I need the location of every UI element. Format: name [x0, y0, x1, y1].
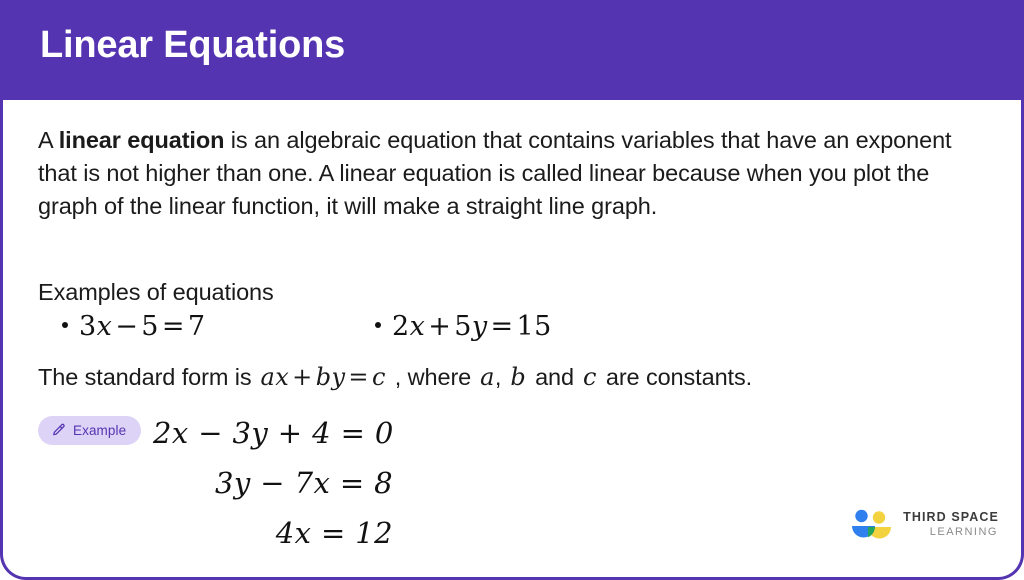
bullet1-rhs: 7	[188, 311, 206, 342]
standard-form-and: and	[535, 364, 574, 391]
bullet2-equals: =	[488, 311, 517, 342]
list-item: 3x−5=7	[62, 311, 205, 342]
bullet1-term2: 5	[141, 311, 159, 342]
logo-line-2: LEARNING	[903, 527, 999, 538]
bullet2-coef2: 5	[454, 311, 472, 342]
constant-b: b	[510, 363, 526, 391]
bullet-dot-icon	[375, 322, 381, 328]
bullet2-op1: +	[425, 311, 454, 342]
bullet-equation-1: 3x−5=7	[79, 311, 205, 342]
standard-form-suffix-2: are constants.	[606, 364, 752, 391]
formula-plus: +	[289, 363, 316, 391]
examples-label: Examples of equations	[38, 279, 274, 306]
bullet2-coef1: 2	[392, 311, 410, 342]
example-equation-list: 2x − 3y + 4 = 0 3y − 7x = 8 4x = 12	[153, 408, 393, 558]
definition-lead: A	[38, 127, 59, 153]
standard-form-formula: ax+by=c	[261, 363, 386, 391]
list-item: 2x+5y=15	[375, 311, 552, 342]
standard-form-suffix-1: , where	[395, 364, 471, 391]
bullet-equation-2: 2x+5y=15	[392, 311, 552, 342]
bullet1-op1: −	[112, 311, 141, 342]
examples-bullet-list: 3x−5=7 2x+5y=15	[38, 311, 968, 351]
logo-line-1: THIRD SPACE	[903, 511, 999, 524]
formula-x: x	[275, 363, 289, 391]
formula-c: c	[372, 363, 386, 391]
example-equation-3: 4x = 12	[153, 508, 393, 558]
constant-c: c	[583, 363, 597, 391]
definition-term: linear equation	[59, 127, 225, 153]
logo-figures-icon	[848, 508, 894, 541]
formula-a: a	[261, 363, 276, 391]
bullet2-var2: y	[472, 311, 488, 342]
formula-equals: =	[345, 363, 372, 391]
bullet1-equals: =	[159, 311, 188, 342]
page-title: Linear Equations	[40, 24, 345, 67]
bullet2-rhs: 15	[517, 311, 552, 342]
lesson-card: Linear Equations A linear equation is an…	[0, 0, 1024, 580]
standard-form-sentence: The standard form isax+by=c, wherea,band…	[38, 363, 752, 391]
example-badge-label: Example	[73, 423, 126, 438]
bullet1-var1: x	[97, 311, 113, 342]
bullet1-coef1: 3	[79, 311, 97, 342]
standard-form-comma: ,	[495, 364, 501, 391]
third-space-learning-logo: THIRD SPACE LEARNING	[848, 508, 999, 541]
logo-text: THIRD SPACE LEARNING	[903, 511, 999, 538]
pencil-icon	[51, 423, 66, 438]
example-equation-1: 2x − 3y + 4 = 0	[153, 408, 393, 458]
definition-paragraph: A linear equation is an algebraic equati…	[38, 124, 968, 223]
card-body: A linear equation is an algebraic equati…	[3, 103, 1021, 577]
bullet2-var1: x	[410, 311, 426, 342]
formula-y: y	[331, 363, 345, 391]
bullet-dot-icon	[62, 322, 68, 328]
logo-mark-icon	[848, 508, 894, 541]
card-header: Linear Equations	[0, 0, 1024, 100]
formula-b: b	[316, 363, 332, 391]
constant-a: a	[480, 363, 495, 391]
standard-form-prefix: The standard form is	[38, 364, 252, 391]
example-equation-2: 3y − 7x = 8	[153, 458, 393, 508]
example-badge: Example	[38, 416, 141, 445]
